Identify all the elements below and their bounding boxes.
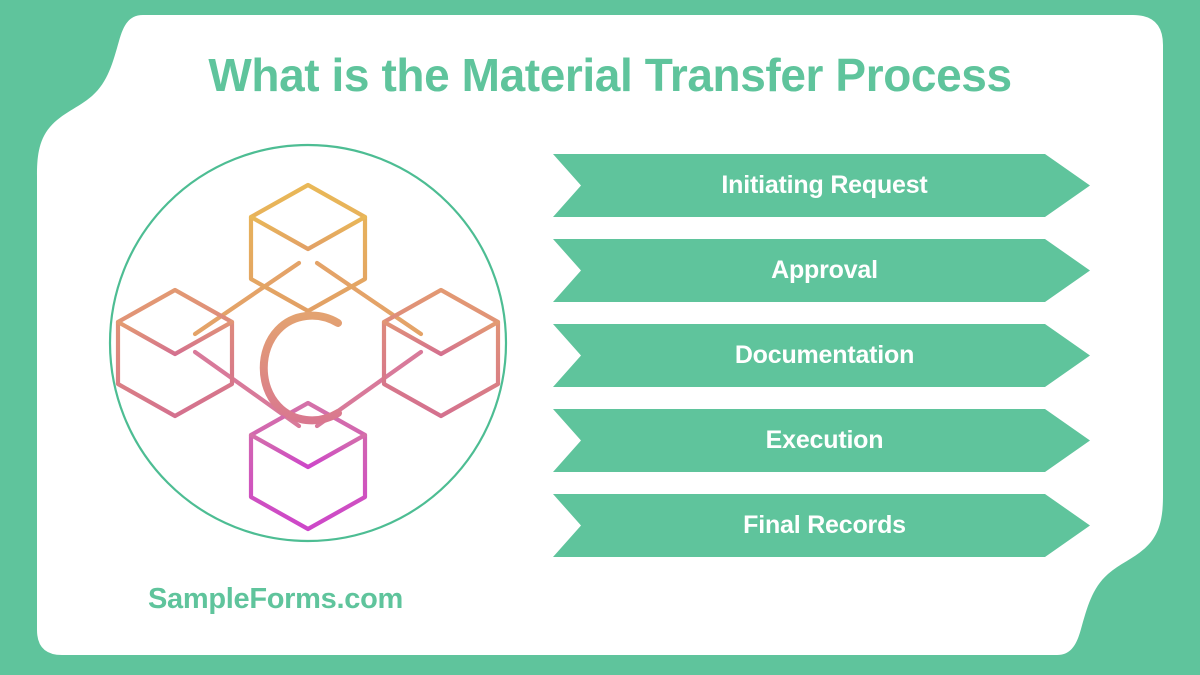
process-step-2[interactable]: Approval (553, 239, 1090, 302)
process-step-label: Approval (765, 256, 878, 285)
process-step-label: Documentation (729, 341, 914, 370)
process-step-label: Execution (760, 426, 884, 455)
brand-watermark[interactable]: SampleForms.com (148, 583, 403, 616)
cube-right (384, 290, 498, 416)
process-step-1[interactable]: Initiating Request (553, 154, 1090, 217)
blockchain-network-illustration (103, 138, 513, 548)
process-step-list: Initiating Request Approval Documentatio… (553, 154, 1090, 564)
currency-c-icon (264, 301, 338, 435)
infographic-canvas: What is the Material Transfer Process (0, 0, 1200, 675)
cube-left (118, 290, 232, 416)
process-step-3[interactable]: Documentation (553, 324, 1090, 387)
cube-top (251, 185, 365, 311)
process-step-label: Initiating Request (715, 171, 927, 200)
process-step-5[interactable]: Final Records (553, 494, 1090, 557)
page-title: What is the Material Transfer Process (0, 48, 1200, 102)
process-step-label: Final Records (737, 511, 906, 540)
process-step-4[interactable]: Execution (553, 409, 1090, 472)
